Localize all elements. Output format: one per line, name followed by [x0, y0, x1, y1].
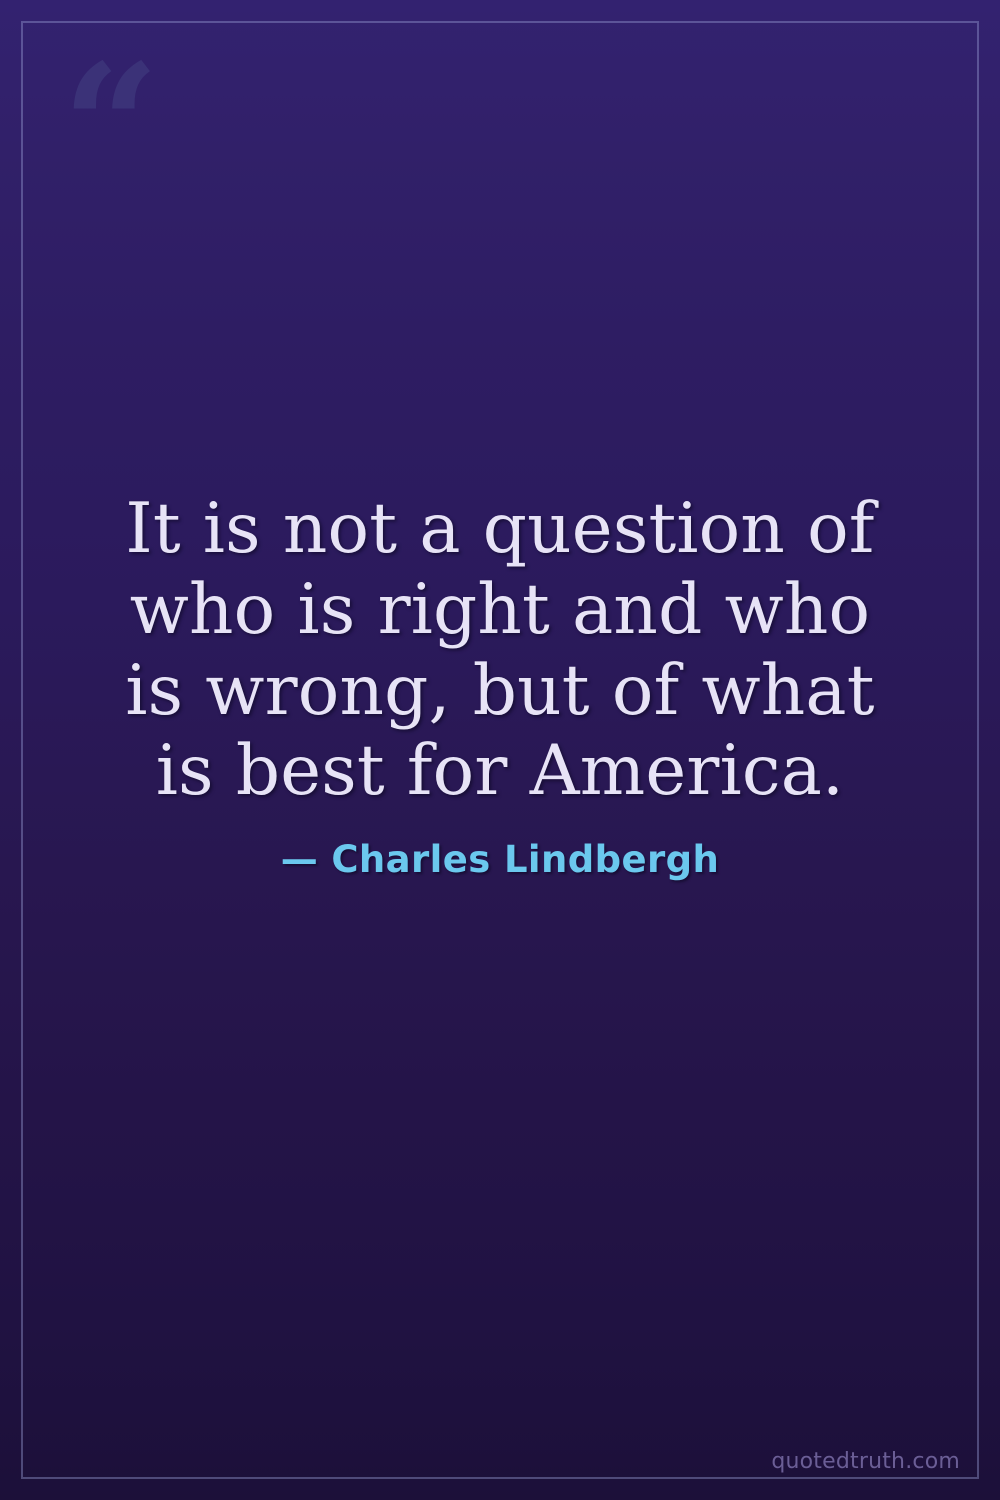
site-watermark: quotedtruth.com [771, 1449, 960, 1474]
quote-text: It is not a question of who is right and… [96, 489, 904, 812]
quote-card: “ It is not a question of who is right a… [0, 0, 1000, 1500]
quote-content-block: It is not a question of who is right and… [0, 0, 1000, 1500]
quote-author: — Charles Lindbergh [281, 838, 720, 881]
